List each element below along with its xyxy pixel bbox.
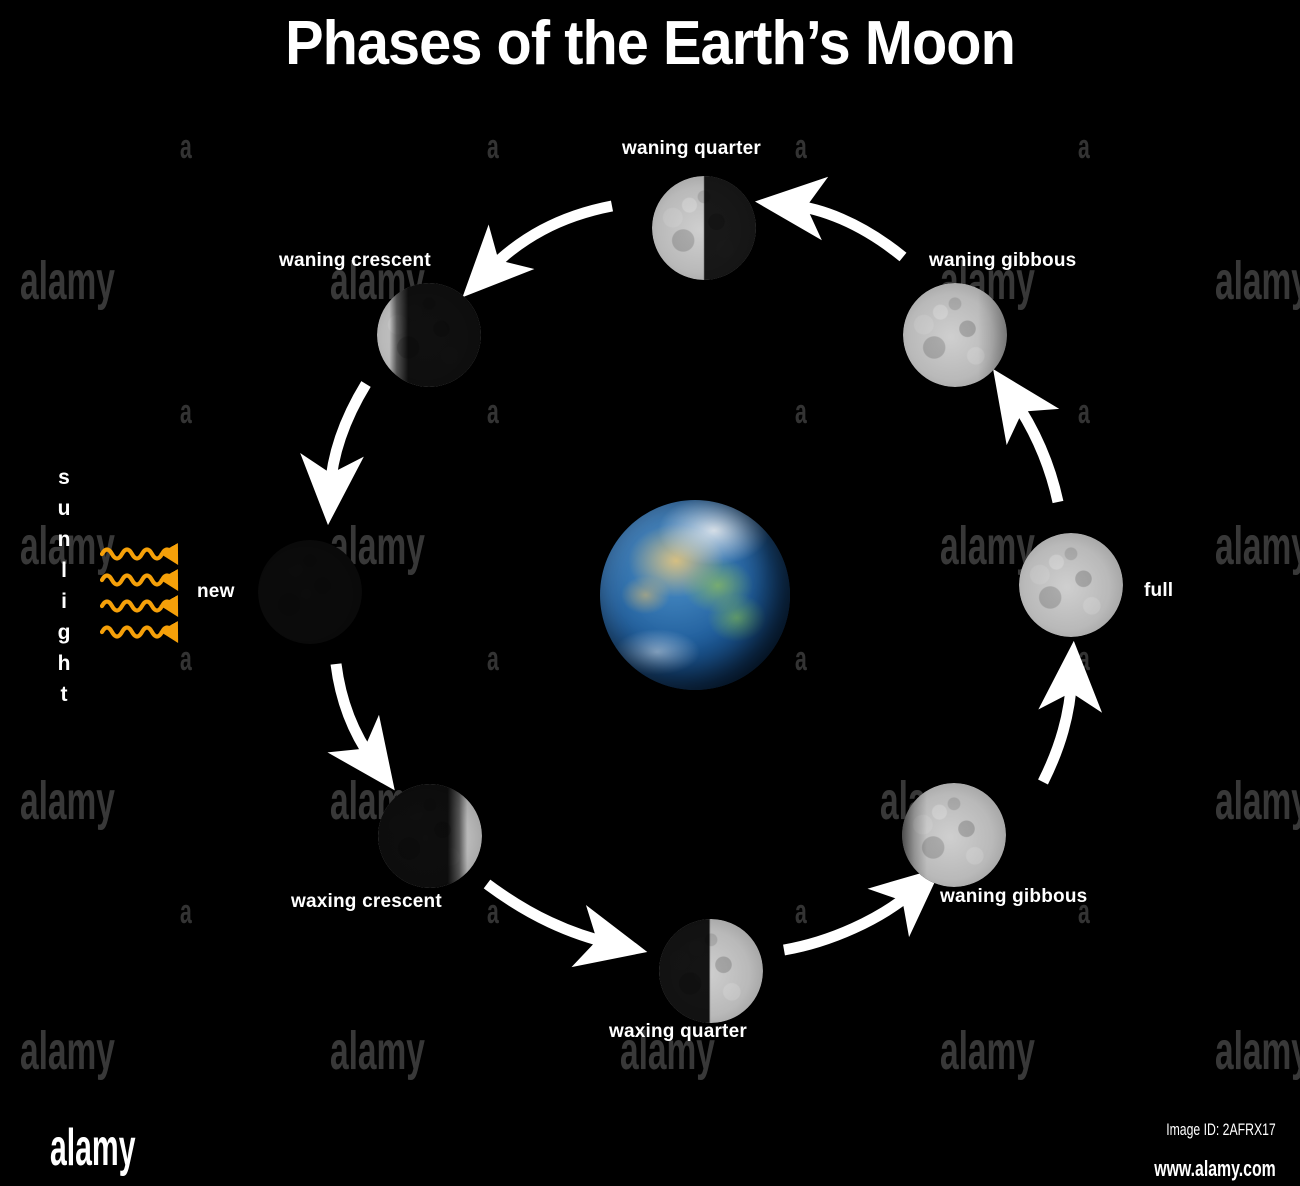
moon-shadow bbox=[258, 540, 362, 644]
earth-globe bbox=[600, 500, 790, 690]
sunlight-rays bbox=[100, 540, 200, 650]
label-waning-gibbous-top: waning gibbous bbox=[929, 250, 1076, 272]
sunlight-ray bbox=[102, 550, 172, 559]
sunlight-letter: t bbox=[52, 679, 76, 710]
label-waning-crescent: waning crescent bbox=[279, 250, 431, 272]
moon-waxing-crescent bbox=[378, 784, 482, 888]
moon-shadow bbox=[652, 176, 756, 280]
arrow-waxing-crescent-to-quarter bbox=[487, 884, 613, 944]
sunlight-letter: h bbox=[52, 648, 76, 679]
sunlight-ray bbox=[102, 628, 172, 637]
sunlight-letter: i bbox=[52, 586, 76, 617]
sunlight-letter: n bbox=[52, 524, 76, 555]
site-url-text: www.alamy.com bbox=[1155, 1156, 1276, 1182]
sunlight-ray bbox=[102, 602, 172, 611]
moon-new bbox=[258, 540, 362, 644]
sunlight-letter: l bbox=[52, 555, 76, 586]
label-waxing-crescent: waxing crescent bbox=[291, 891, 442, 913]
footer-bar: alamy Image ID: 2AFRX17 www.alamy.com bbox=[0, 1100, 1300, 1186]
moon-waxing-gibbous bbox=[902, 783, 1006, 887]
sunlight-letter: s bbox=[52, 462, 76, 493]
moon-shadow bbox=[1019, 533, 1123, 637]
moon-full bbox=[1019, 533, 1123, 637]
label-waning-gibbous-bottom: waning gibbous bbox=[940, 886, 1087, 908]
sunlight-letter: u bbox=[52, 493, 76, 524]
sunlight-ray bbox=[102, 576, 172, 585]
footer-meta: Image ID: 2AFRX17 www.alamy.com bbox=[1107, 1120, 1276, 1182]
arrow-waning-gibbous-to-quarter bbox=[790, 205, 903, 257]
label-waxing-quarter: waxing quarter bbox=[609, 1021, 747, 1043]
moon-waning-quarter bbox=[652, 176, 756, 280]
moon-waning-gibbous bbox=[903, 283, 1007, 387]
diagram-canvas: a a a a alamy alamy alamy alamy a a a a … bbox=[0, 0, 1300, 1100]
moon-shadow bbox=[902, 783, 1006, 887]
moon-shadow bbox=[378, 784, 482, 888]
arrow-waning-quarter-to-crescent bbox=[487, 206, 612, 272]
moon-waxing-quarter bbox=[659, 919, 763, 1023]
arrow-full-to-waning-gibbous bbox=[1013, 398, 1058, 502]
arrow-waxing-quarter-to-gibbous bbox=[784, 890, 915, 950]
sunlight-letter: g bbox=[52, 617, 76, 648]
arrow-waning-crescent-to-new bbox=[330, 384, 366, 490]
label-full: full bbox=[1144, 580, 1173, 602]
arrow-new-to-waxing-crescent bbox=[336, 664, 374, 762]
label-new: new bbox=[197, 581, 235, 603]
moon-shadow bbox=[903, 283, 1007, 387]
moon-waning-crescent bbox=[377, 283, 481, 387]
moon-phases-diagram: Phases of the Earth’s Moon a a a a alamy… bbox=[0, 0, 1300, 1186]
alamy-logo: alamy bbox=[50, 1118, 136, 1178]
sunlight-label: s u n l i g h t bbox=[52, 462, 76, 710]
image-id-text: Image ID: 2AFRX17 bbox=[1155, 1120, 1276, 1140]
moon-shadow bbox=[659, 919, 763, 1023]
earth-highlight bbox=[600, 500, 790, 690]
label-waning-quarter: waning quarter bbox=[622, 138, 761, 160]
arrow-waxing-gibbous-to-full bbox=[1043, 676, 1072, 782]
moon-shadow bbox=[377, 283, 481, 387]
